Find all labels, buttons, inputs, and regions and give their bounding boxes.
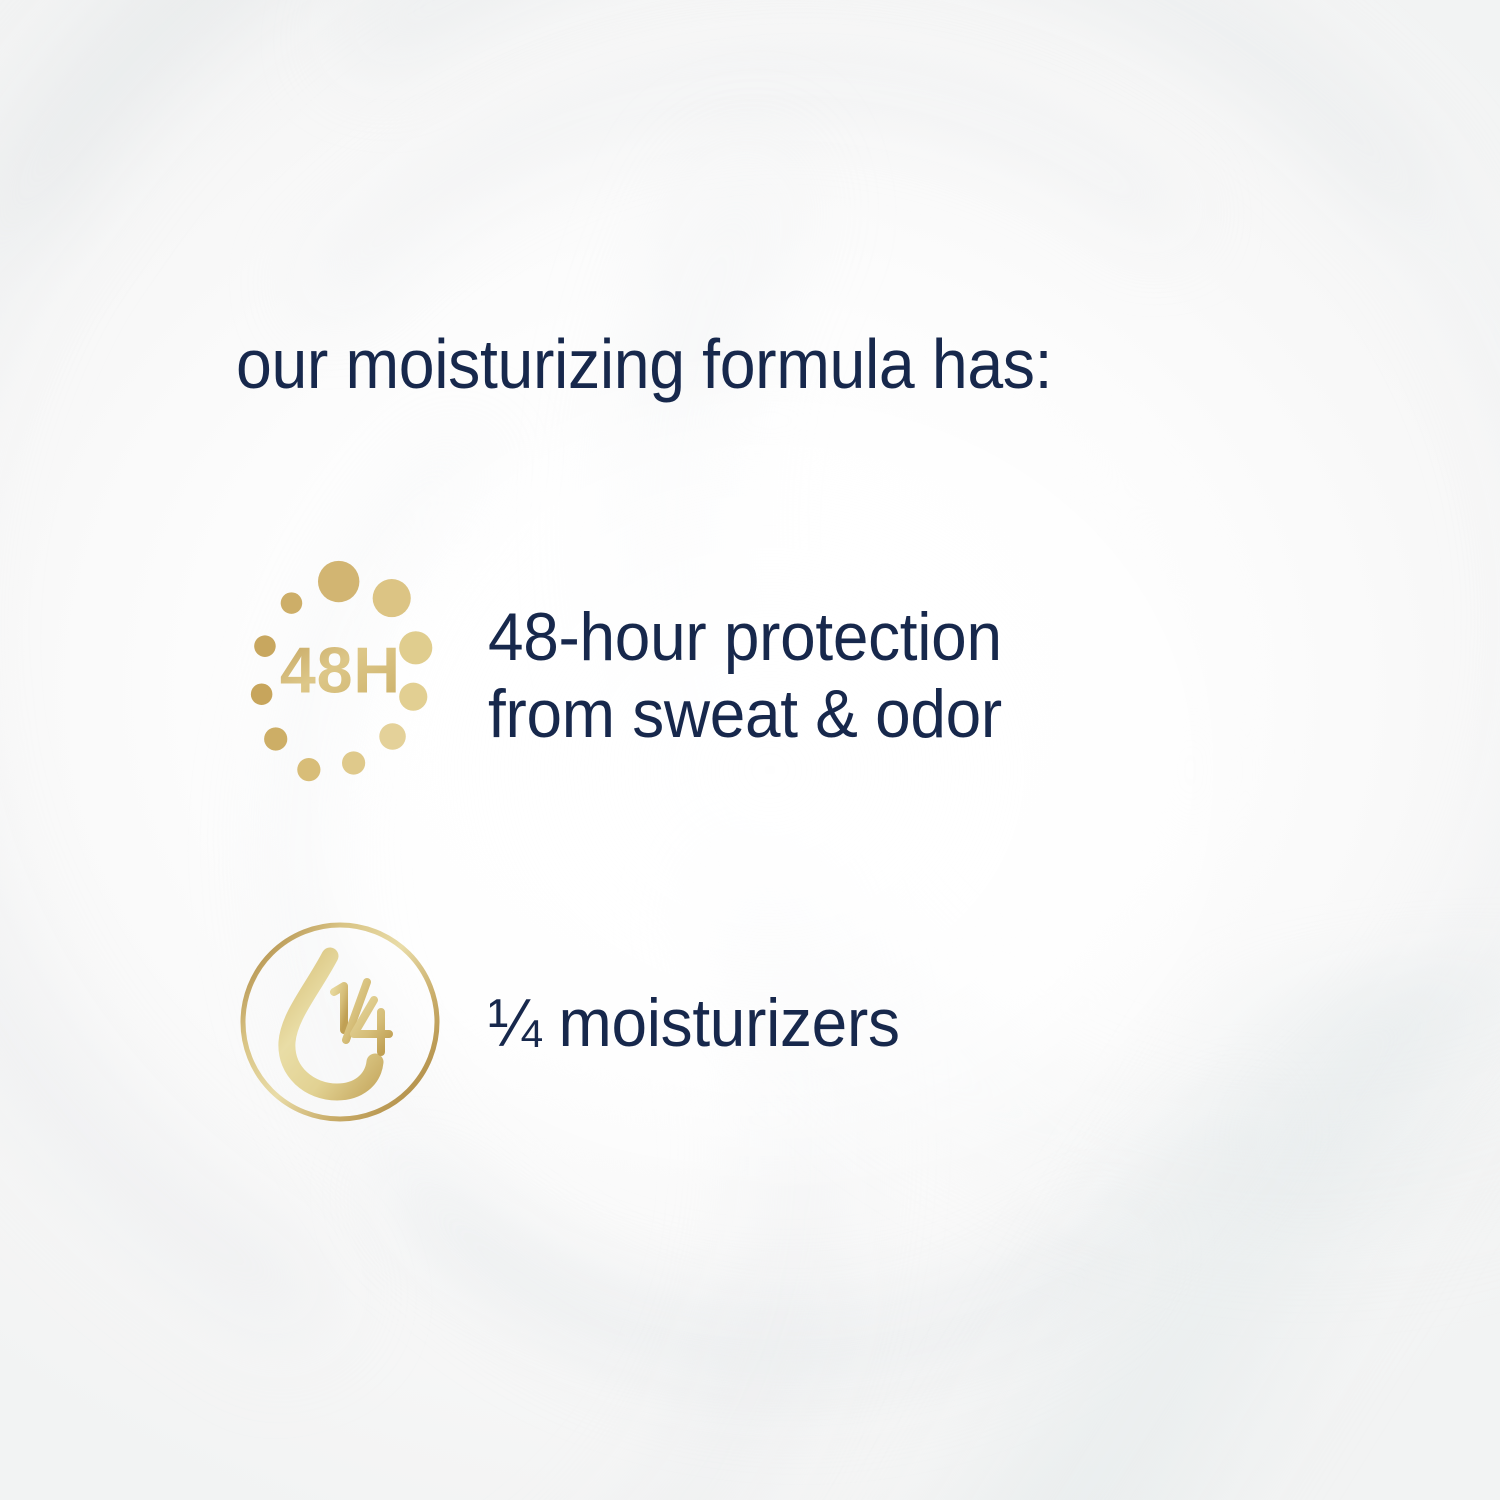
page-title: our moisturizing formula has: bbox=[236, 328, 1052, 401]
ring-dot-9 bbox=[251, 683, 273, 705]
48h-icon-label: 48H bbox=[280, 635, 401, 707]
ring-dot-6 bbox=[342, 751, 365, 774]
ring-dot-2 bbox=[373, 579, 411, 617]
48h-dot-ring-svg: 48H bbox=[232, 560, 452, 792]
ring-dot-8 bbox=[264, 727, 287, 750]
ring-dot-3 bbox=[399, 631, 432, 664]
content-area: our moisturizing formula has: bbox=[0, 0, 1500, 1500]
ring-dot-5 bbox=[379, 723, 406, 750]
benefit-item-moisturizers: ¼ moisturizers bbox=[232, 918, 926, 1128]
quarter-moisturizer-svg bbox=[234, 920, 446, 1126]
ring-dot-7 bbox=[297, 758, 320, 781]
ring-dot-10 bbox=[254, 635, 276, 657]
benefit-label-48h: 48-hour protection from sweat & odor bbox=[488, 599, 1002, 753]
ring-dot-4 bbox=[399, 683, 427, 711]
benefit-label-moisturizers: ¼ moisturizers bbox=[488, 985, 900, 1062]
benefit-item-48h: 48H 48-hour protection from sweat & odor bbox=[232, 560, 1035, 792]
ring-dot-11 bbox=[281, 592, 303, 614]
ring-dot-1 bbox=[318, 561, 359, 602]
fraction-quarter bbox=[334, 982, 389, 1052]
48h-dot-ring-icon: 48H bbox=[232, 560, 452, 792]
fraction-numerator bbox=[334, 986, 344, 1030]
product-benefits-panel: our moisturizing formula has: bbox=[0, 0, 1500, 1500]
quarter-moisturizer-droplet-icon bbox=[232, 918, 452, 1128]
